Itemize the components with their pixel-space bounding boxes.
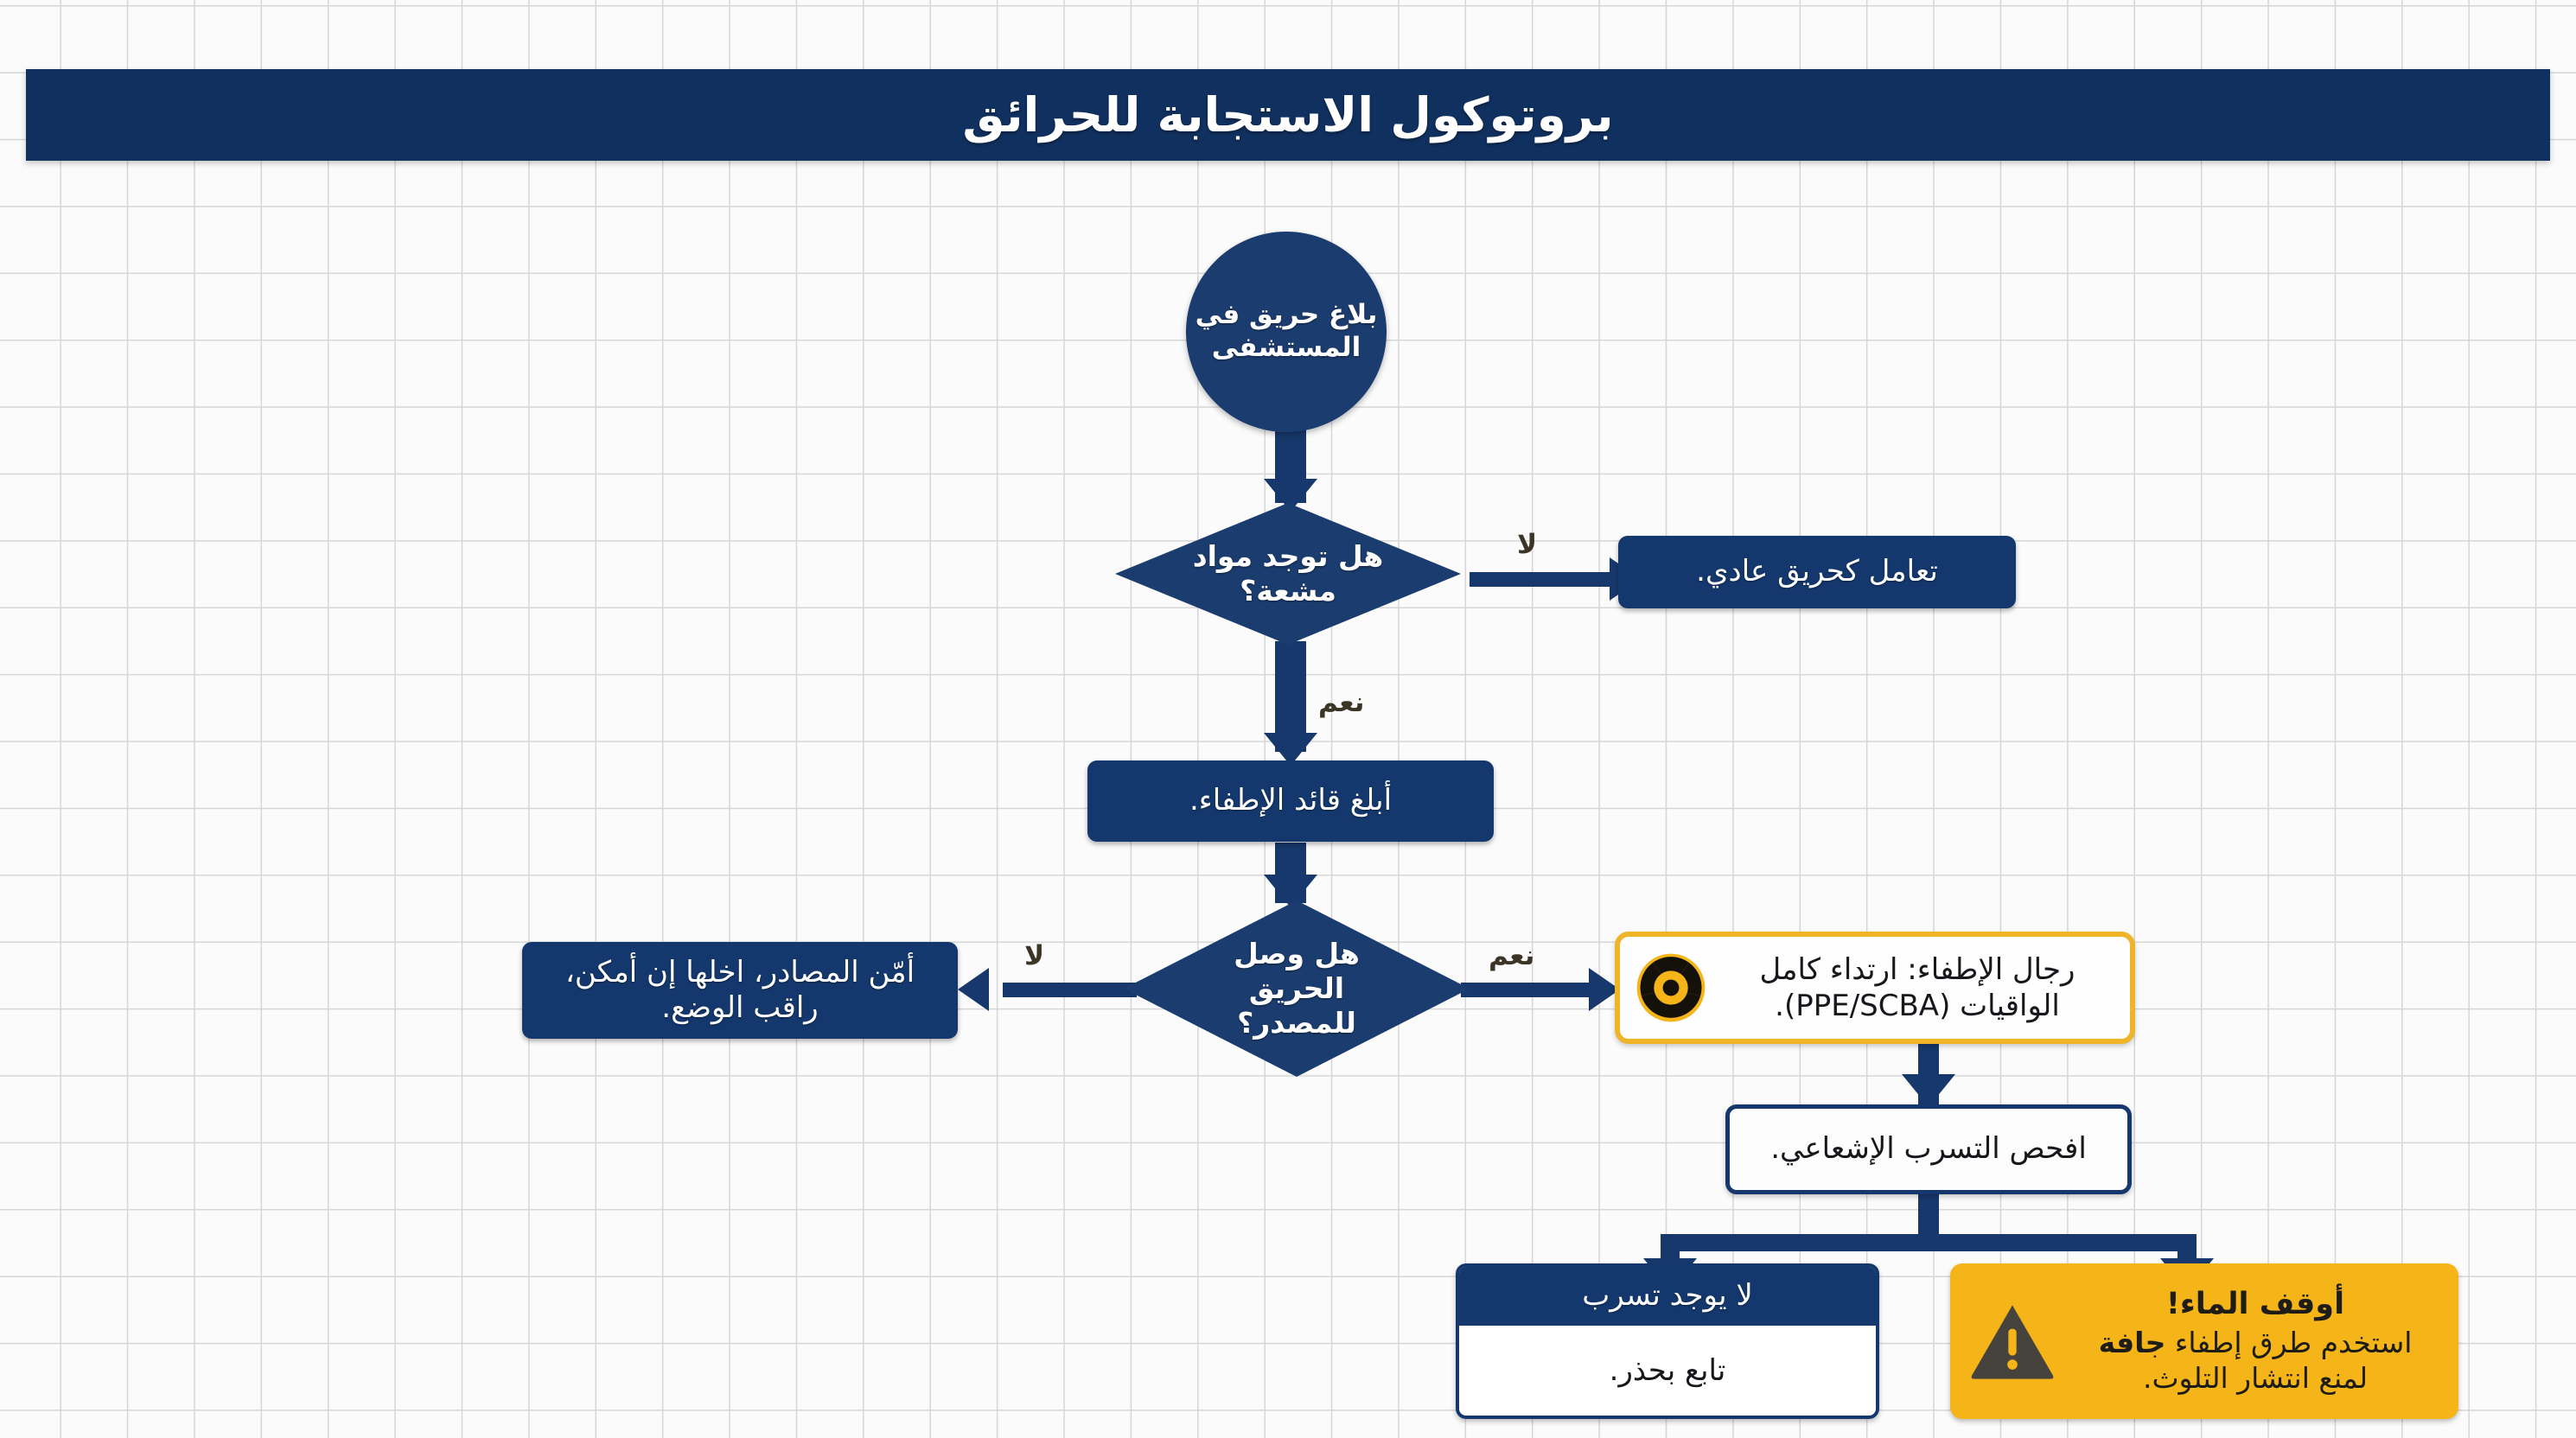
node-no-leak-card[interactable]: لا يوجد تسرب تابع بحذر. (1456, 1263, 1879, 1419)
node-notify-fire-chief[interactable]: أبلغ قائد الإطفاء. (1087, 760, 1494, 842)
node-notify-chief-label: أبلغ قائد الإطفاء. (1189, 783, 1392, 818)
edge-label-decision1-no: لا (1517, 529, 1537, 560)
node-check-leak-label: افحص التسرب الإشعاعي. (1770, 1131, 2087, 1167)
connector-decision2-no (1003, 983, 1137, 997)
node-decision-fire-reached-source[interactable]: هل وصل الحريق للمصدر؟ (1124, 900, 1470, 1077)
connector-split-bar (1661, 1234, 2197, 1251)
node-stop-water-heading: أوقف الماء! (2069, 1286, 2441, 1323)
warning-triangle-icon (1967, 1296, 2057, 1386)
connector-decision1-no (1470, 572, 1616, 587)
node-stop-water-line1-strong: جافة (2099, 1326, 2166, 1359)
edge-label-decision2-yes: نعم (1489, 940, 1534, 971)
node-start-fire-report[interactable]: بلاغ حريق في المستشفى (1186, 232, 1387, 432)
node-stop-water-warning[interactable]: أوقف الماء! استخدم طرق إطفاء جافة لمنع ا… (1950, 1263, 2458, 1419)
node-start-label: بلاغ حريق في المستشفى (1195, 299, 1378, 365)
edge-label-decision1-yes: نعم (1318, 687, 1364, 718)
node-firefighter-ppe[interactable]: رجال الإطفاء: ارتداء كامل الواقيات (PPE/… (1615, 932, 2135, 1044)
connector-decision2-yes (1461, 983, 1591, 997)
node-secure-sources[interactable]: أمّن المصادر، اخلها إن أمكن، راقب الوضع. (522, 942, 958, 1039)
node-treat-as-ordinary-fire[interactable]: تعامل كحريق عادي. (1618, 536, 2016, 608)
node-stop-water-line1-prefix: استخدم طرق إطفاء (2165, 1326, 2412, 1359)
node-ordinary-fire-label: تعامل كحريق عادي. (1696, 554, 1938, 589)
node-no-leak-head: لا يوجد تسرب (1459, 1267, 1876, 1326)
radiation-icon (1636, 952, 1706, 1023)
node-decision-radioactive-label: هل توجد مواد مشعة؟ (1184, 539, 1392, 609)
flowchart-canvas: بروتوكول الاستجابة للحرائق لا نعم لا نعم… (0, 0, 2576, 1438)
connector-check-stem (1918, 1194, 1939, 1236)
arrowhead-ppe-to-check (1902, 1074, 1955, 1107)
node-secure-sources-label: أمّن المصادر، اخلها إن أمكن، راقب الوضع. (545, 955, 935, 1027)
node-stop-water-text: أوقف الماء! استخدم طرق إطفاء جافة لمنع ا… (2069, 1286, 2441, 1397)
node-decision-radioactive-materials[interactable]: هل توجد مواد مشعة؟ (1115, 503, 1461, 645)
arrowhead-decision2-no (958, 968, 989, 1011)
node-stop-water-line2: لمنع انتشار التلوث. (2143, 1361, 2368, 1395)
node-no-leak-body: تابع بحذر. (1459, 1326, 1876, 1416)
page-title-banner: بروتوكول الاستجابة للحرائق (26, 69, 2550, 161)
arrowhead-notify-to-decision2 (1264, 875, 1317, 907)
page-title: بروتوكول الاستجابة للحرائق (962, 92, 1613, 139)
node-firefighter-ppe-label: رجال الإطفاء: ارتداء كامل الواقيات (PPE/… (1720, 951, 2114, 1025)
edge-label-decision2-no: لا (1024, 940, 1044, 971)
node-check-radiation-leak[interactable]: افحص التسرب الإشعاعي. (1725, 1104, 2132, 1194)
node-decision-reached-source-label: هل وصل الحريق للمصدر؟ (1189, 937, 1405, 1041)
